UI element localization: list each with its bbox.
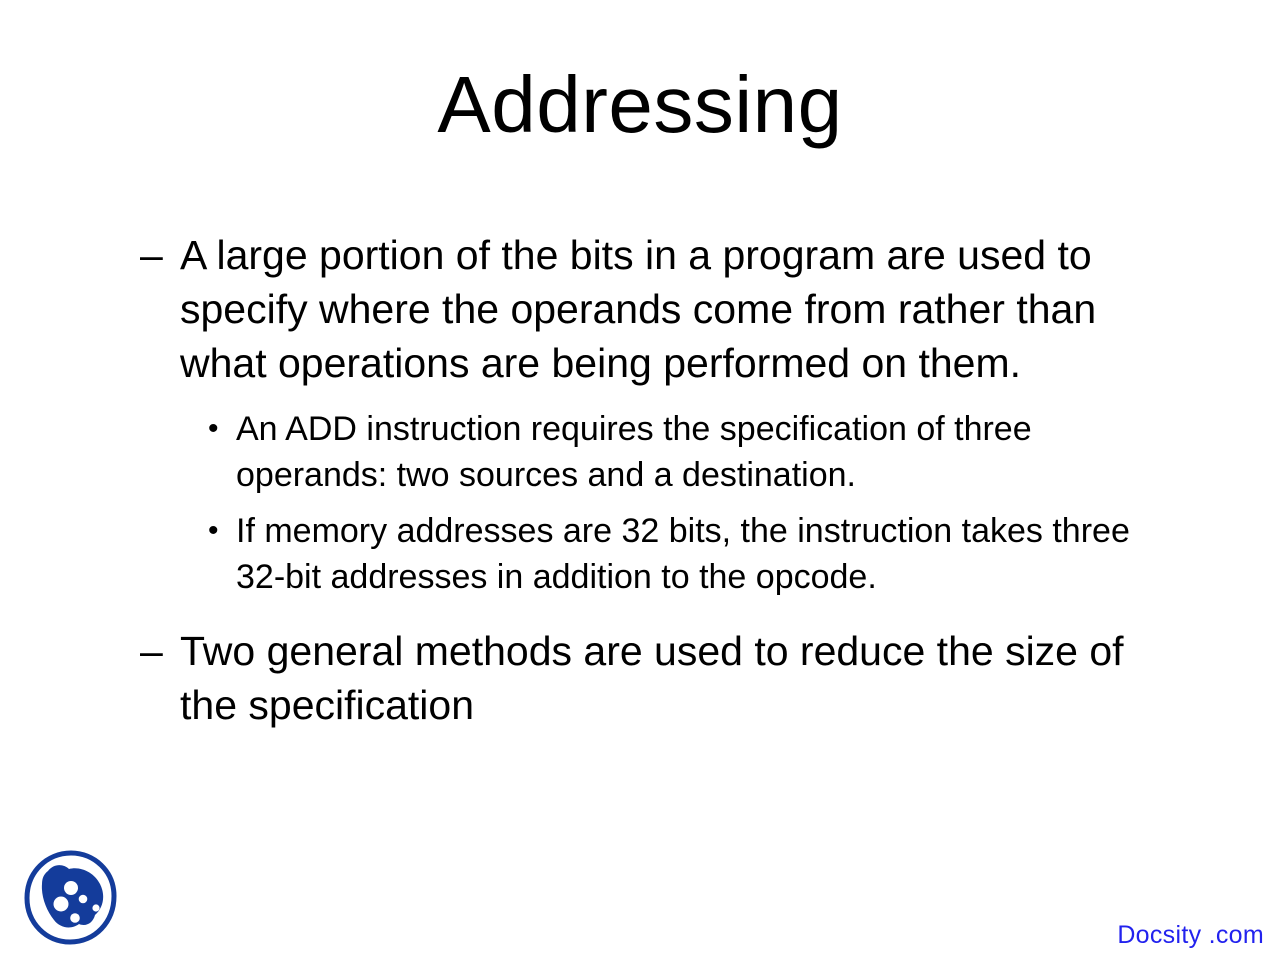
list-item: – Two general methods are used to reduce… bbox=[140, 624, 1180, 732]
brand-watermark: Docsity .com bbox=[1117, 920, 1264, 950]
dot-bullet-marker: • bbox=[208, 406, 236, 452]
dash-bullet-marker: – bbox=[140, 228, 180, 282]
slide-canvas: Addressing – A large portion of the bits… bbox=[0, 0, 1280, 960]
page-title: Addressing bbox=[0, 62, 1280, 148]
list-item: • If memory addresses are 32 bits, the i… bbox=[208, 508, 1180, 600]
list-item: • An ADD instruction requires the specif… bbox=[208, 406, 1180, 498]
dash-bullet-marker: – bbox=[140, 624, 180, 678]
list-item-text: If memory addresses are 32 bits, the ins… bbox=[236, 508, 1171, 600]
list-item: – A large portion of the bits in a progr… bbox=[140, 228, 1180, 390]
dot-bullet-marker: • bbox=[208, 508, 236, 554]
list-item-text: A large portion of the bits in a program… bbox=[180, 228, 1180, 390]
list-item-text: Two general methods are used to reduce t… bbox=[180, 624, 1180, 732]
bullet-list: – A large portion of the bits in a progr… bbox=[140, 228, 1180, 734]
docsity-logo-icon bbox=[24, 850, 118, 946]
list-item-text: An ADD instruction requires the specific… bbox=[236, 406, 1171, 498]
